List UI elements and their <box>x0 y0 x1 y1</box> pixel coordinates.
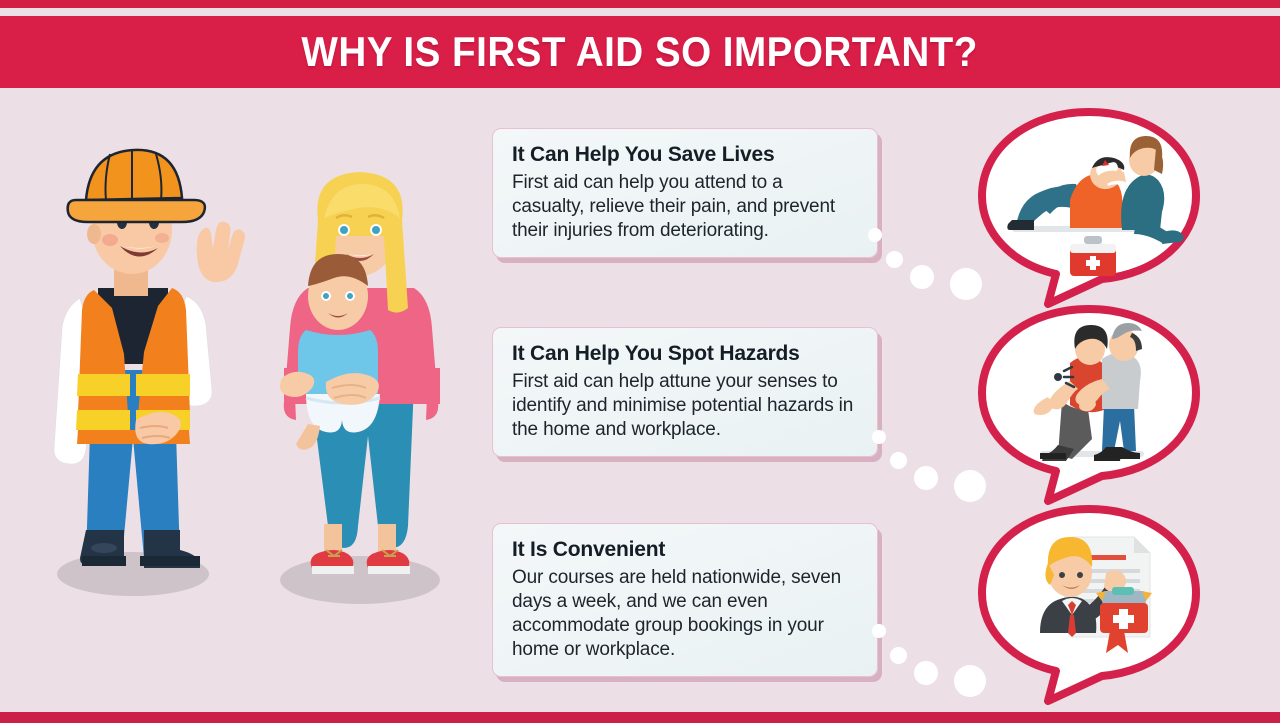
card-title: It Can Help You Spot Hazards <box>512 342 859 367</box>
thought-dot <box>910 265 934 289</box>
info-card-spot-hazards: It Can Help You Spot Hazards First aid c… <box>492 327 878 457</box>
card-title: It Can Help You Save Lives <box>512 143 859 168</box>
speech-bubble-save-lives <box>978 108 1198 288</box>
speech-bubble-spot-hazards <box>978 305 1198 485</box>
card-body: First aid can help attune your senses to… <box>512 370 859 442</box>
thought-dot <box>914 661 938 685</box>
thought-dot <box>890 647 907 664</box>
header-banner: WHY IS FIRST AID SO IMPORTANT? <box>0 16 1280 88</box>
thought-dot <box>868 228 882 242</box>
page-title: WHY IS FIRST AID SO IMPORTANT? <box>302 28 978 76</box>
thought-dot <box>914 466 938 490</box>
bottom-accent-strip <box>0 712 1280 723</box>
top-accent-strip <box>0 0 1280 8</box>
thought-dot <box>872 430 886 444</box>
card-body: Our courses are held nationwide, seven d… <box>512 566 859 663</box>
card-title: It Is Convenient <box>512 538 859 563</box>
card-body: First aid can help you attend to a casua… <box>512 171 859 243</box>
infographic-page: WHY IS FIRST AID SO IMPORTANT? <box>0 0 1280 723</box>
thought-dot <box>886 251 903 268</box>
speech-bubble-convenient <box>978 505 1198 685</box>
info-card-save-lives: It Can Help You Save Lives First aid can… <box>492 128 878 258</box>
thought-dot <box>872 624 886 638</box>
construction-worker-illustration <box>28 138 238 598</box>
thought-dot <box>890 452 907 469</box>
mother-and-baby-illustration <box>268 168 458 608</box>
info-card-convenient: It Is Convenient Our courses are held na… <box>492 523 878 677</box>
